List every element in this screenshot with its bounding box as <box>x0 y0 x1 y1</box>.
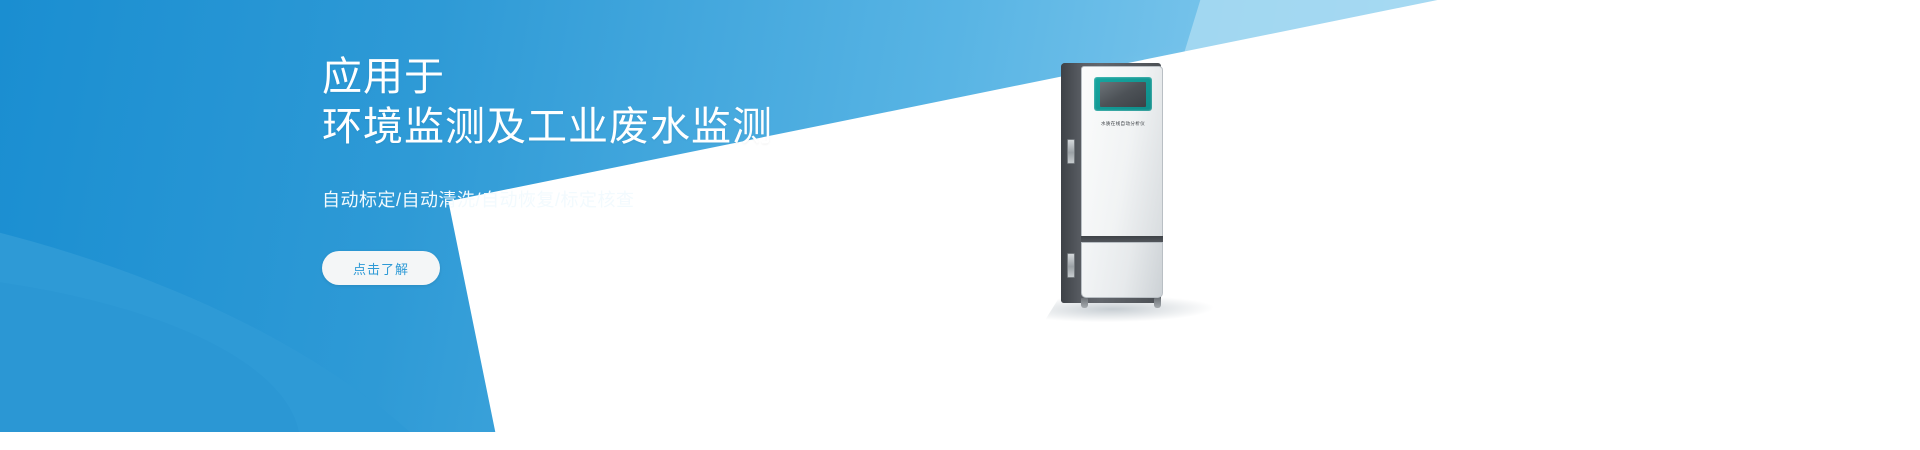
learn-more-button[interactable]: 点击了解 <box>322 251 440 285</box>
banner-content: 应用于 环境监测及工业废水监测 自动标定/自动清洗/自动恢复/标定核查 点击了解 <box>0 0 1920 450</box>
hero-banner: 水质在线自动分析仪 应用于 环境监测及工业废水监测 自动标定/自动清洗/自动恢复… <box>0 0 1920 450</box>
headline-line-1: 应用于 <box>322 52 773 102</box>
headline-line-2: 环境监测及工业废水监测 <box>322 102 773 152</box>
banner-headline: 应用于 环境监测及工业废水监测 <box>322 52 773 152</box>
banner-subtitle: 自动标定/自动清洗/自动恢复/标定核查 <box>322 186 635 212</box>
